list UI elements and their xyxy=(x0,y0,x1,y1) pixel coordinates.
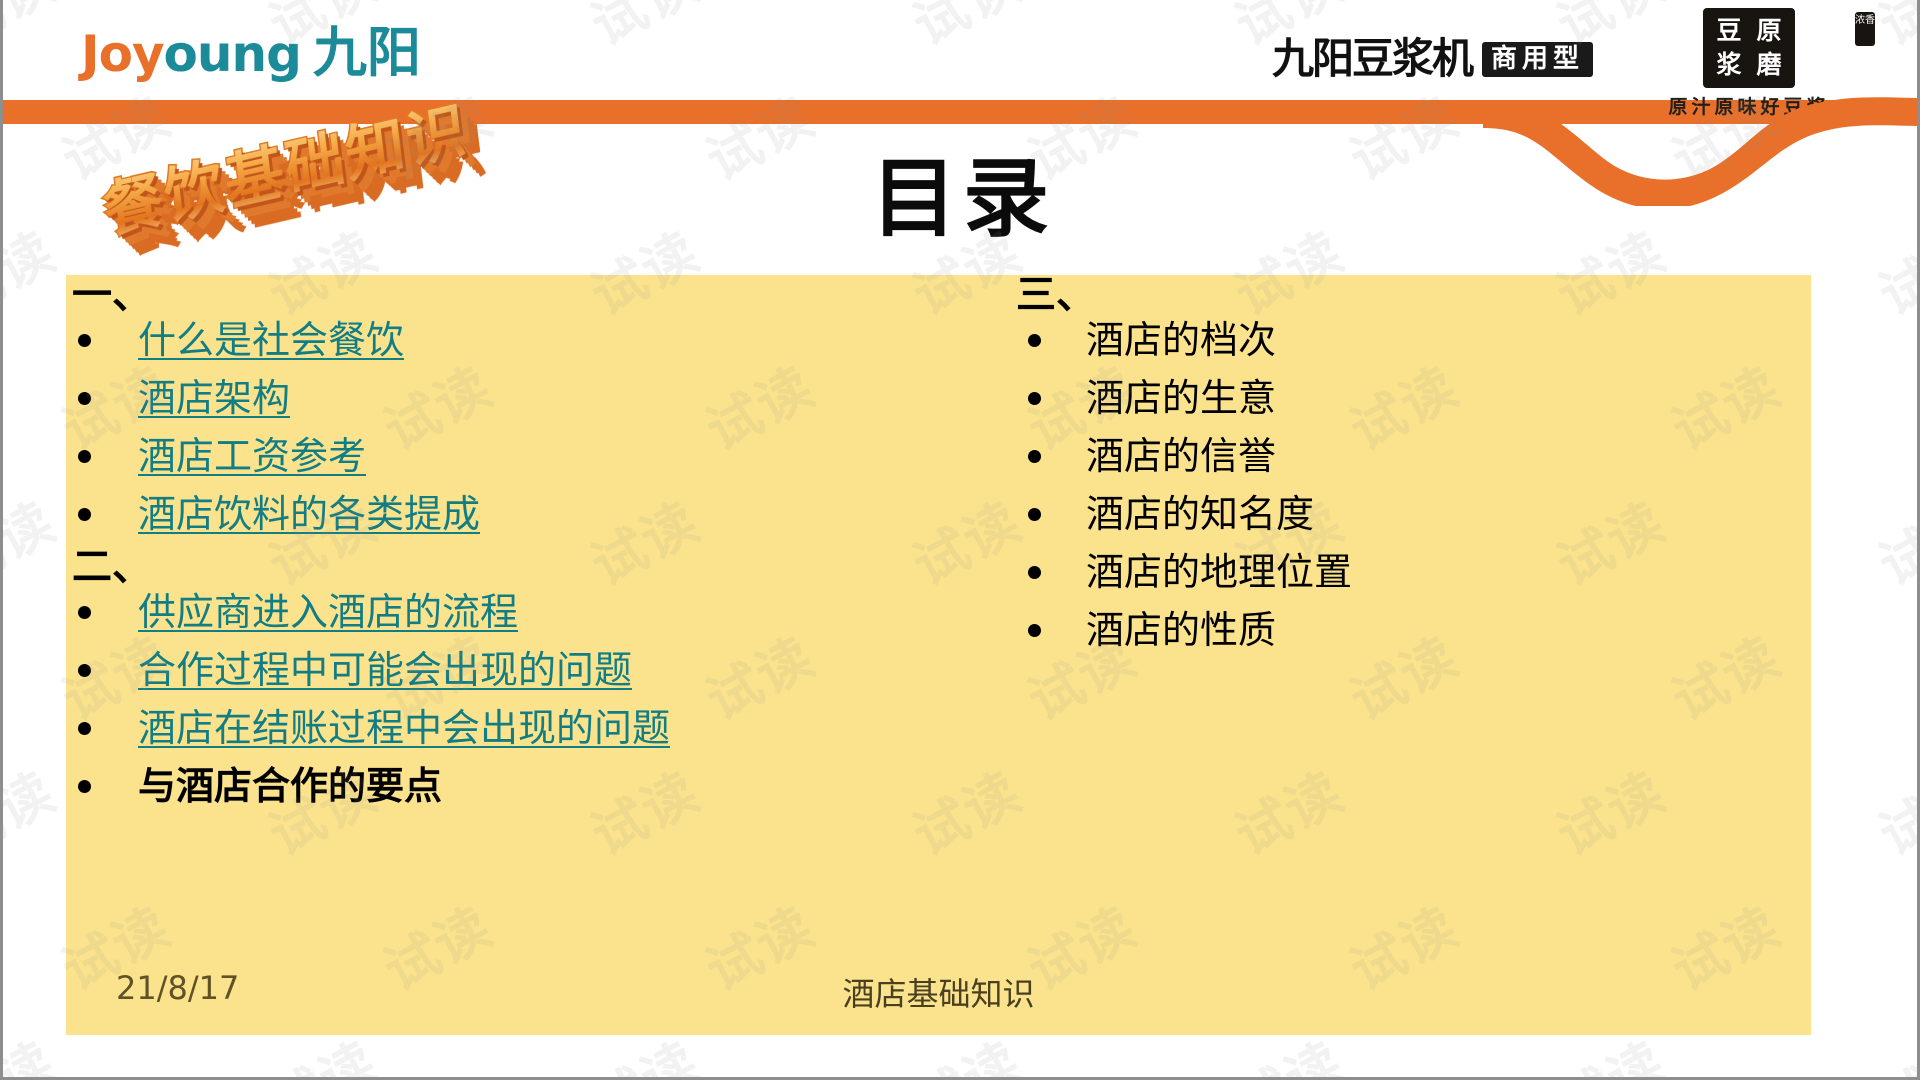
toc-text: 酒店的知名度 xyxy=(1086,492,1314,536)
product-type-badge: 商用型 xyxy=(1482,42,1593,77)
footer-title: 酒店基础知识 xyxy=(66,969,1811,1015)
list-item[interactable]: 供应商进入酒店的流程 xyxy=(66,587,946,637)
bullet-icon xyxy=(78,334,91,347)
watermark-text: 试读 xyxy=(3,748,67,870)
joyoung-logo: Joyoung九阳 xyxy=(81,26,421,80)
toc-text: 与酒店合作的要点 xyxy=(138,764,442,808)
watermark-text: 试读 xyxy=(1863,1018,1917,1077)
seal-char-2: 原 xyxy=(1750,15,1788,47)
bullet-icon xyxy=(1028,508,1041,521)
toc-list-section-1: 什么是社会餐饮 酒店架构 酒店工资参考 酒店饮料的各类提成 xyxy=(66,315,946,539)
toc-list-section-3: 酒店的档次 酒店的生意 酒店的信誉 酒店的知名度 酒店的地理位置 酒店的性质 xyxy=(946,315,1806,655)
logo-text-chinese: 九阳 xyxy=(313,21,421,84)
toc-text: 酒店的生意 xyxy=(1086,376,1276,420)
logo-text-oung: oung xyxy=(164,25,301,83)
toc-text: 酒店的地理位置 xyxy=(1086,550,1352,594)
watermark-text: 试读 xyxy=(3,1018,67,1077)
toc-right-column: 三、 酒店的档次 酒店的生意 酒店的信誉 酒店的知名度 酒店的地理位置 酒店的性… xyxy=(946,275,1806,663)
bullet-icon xyxy=(78,392,91,405)
list-item[interactable]: 合作过程中可能会出现的问题 xyxy=(66,645,946,695)
toc-link[interactable]: 酒店架构 xyxy=(138,376,290,420)
toc-link[interactable]: 酒店饮料的各类提成 xyxy=(138,492,480,536)
bullet-icon xyxy=(78,606,91,619)
slide-footer: 21/8/17 酒店基础知识 xyxy=(66,955,1811,1035)
watermark-text: 试读 xyxy=(1863,748,1917,870)
bullet-icon xyxy=(1028,566,1041,579)
toc-link[interactable]: 合作过程中可能会出现的问题 xyxy=(138,648,632,692)
watermark-text: 试读 xyxy=(3,478,67,600)
toc-content-box: 一、 什么是社会餐饮 酒店架构 酒店工资参考 酒店饮料的各类提成 二、 供应商进… xyxy=(66,275,1811,1035)
list-item[interactable]: 酒店架构 xyxy=(66,373,946,423)
list-item: 酒店的地理位置 xyxy=(946,547,1806,597)
bullet-icon xyxy=(1028,392,1041,405)
list-item: 酒店的生意 xyxy=(946,373,1806,423)
toc-text: 酒店的信誉 xyxy=(1086,434,1276,478)
toc-link[interactable]: 供应商进入酒店的流程 xyxy=(138,590,518,634)
list-item: 酒店的档次 xyxy=(946,315,1806,365)
seal-char-1: 豆 xyxy=(1710,15,1748,47)
bullet-icon xyxy=(78,664,91,677)
product-title-group: 九阳豆浆机 商用型 xyxy=(1272,38,1593,80)
bullet-icon xyxy=(78,780,91,793)
list-item[interactable]: 酒店饮料的各类提成 xyxy=(66,489,946,539)
bullet-icon xyxy=(1028,624,1041,637)
watermark-text: 试读 xyxy=(1863,478,1917,600)
list-item[interactable]: 什么是社会餐饮 xyxy=(66,315,946,365)
toc-link[interactable]: 酒店在结账过程中会出现的问题 xyxy=(138,706,670,750)
slide-canvas: Joyoung九阳 九阳豆浆机 商用型 浓香 豆 原 浆 磨 原汁原味好豆浆 目… xyxy=(0,0,1920,1080)
toc-list-section-2: 供应商进入酒店的流程 合作过程中可能会出现的问题 酒店在结账过程中会出现的问题 … xyxy=(66,587,946,811)
seal-char-4: 磨 xyxy=(1750,49,1788,81)
logo-text-joy: Joy xyxy=(81,25,164,83)
product-name-label: 九阳豆浆机 xyxy=(1272,38,1472,80)
section-heading-2: 二、 xyxy=(66,547,946,587)
list-item: 酒店的信誉 xyxy=(946,431,1806,481)
bullet-icon xyxy=(78,508,91,521)
list-item[interactable]: 酒店工资参考 xyxy=(66,431,946,481)
list-item: 酒店的知名度 xyxy=(946,489,1806,539)
bullet-icon xyxy=(78,450,91,463)
bullet-icon xyxy=(78,722,91,735)
toc-link[interactable]: 酒店工资参考 xyxy=(138,434,366,478)
toc-link[interactable]: 什么是社会餐饮 xyxy=(138,318,404,362)
bullet-icon xyxy=(1028,334,1041,347)
seal-stamp-icon: 豆 原 浆 磨 xyxy=(1703,8,1795,88)
section-heading-3: 三、 xyxy=(946,275,1806,315)
list-item: 与酒店合作的要点 xyxy=(66,761,946,811)
list-item: 酒店的性质 xyxy=(946,605,1806,655)
section-heading-1: 一、 xyxy=(66,275,946,315)
bullet-icon xyxy=(1028,450,1041,463)
toc-text: 酒店的性质 xyxy=(1086,608,1276,652)
toc-left-column: 一、 什么是社会餐饮 酒店架构 酒店工资参考 酒店饮料的各类提成 二、 供应商进… xyxy=(66,275,946,819)
slide-header: Joyoung九阳 九阳豆浆机 商用型 浓香 豆 原 浆 磨 原汁原味好豆浆 xyxy=(3,0,1920,100)
toc-text: 酒店的档次 xyxy=(1086,318,1276,362)
list-item[interactable]: 酒店在结账过程中会出现的问题 xyxy=(66,703,946,753)
seal-char-3: 浆 xyxy=(1710,49,1748,81)
